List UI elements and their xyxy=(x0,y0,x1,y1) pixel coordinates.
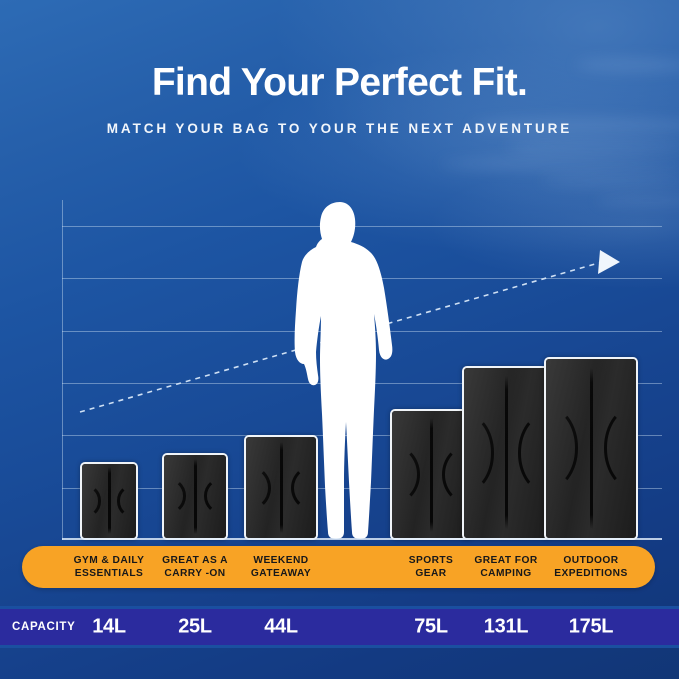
bag-sheen xyxy=(246,437,316,538)
bar-chart-plot-area: 72”60”48”36”24”12” 8” X 18”10” X 20”12” … xyxy=(62,200,662,540)
chart-baseline xyxy=(62,538,662,540)
cloud-streak xyxy=(440,158,679,170)
use-case-cell: GREAT AS ACARRY -ON xyxy=(162,554,228,580)
bag-sheen xyxy=(392,411,470,538)
use-case-line-2: GATEAWAY xyxy=(251,567,311,580)
page-title: Find Your Perfect Fit. xyxy=(0,63,679,104)
use-case-line-1: GREAT AS A xyxy=(162,554,228,567)
capacity-value: 131L xyxy=(484,616,528,639)
use-case-line-1: WEEKEND xyxy=(251,554,311,567)
infographic-canvas: Find Your Perfect Fit. MATCH YOUR BAG TO… xyxy=(0,0,679,679)
capacity-value: 44L xyxy=(264,616,298,639)
bag-bar[interactable]: 12” X 24” xyxy=(244,435,318,540)
cloud-streak xyxy=(505,140,679,153)
capacity-band: CAPACITY 14L25L44L75L131L175L xyxy=(0,606,679,648)
y-axis-line xyxy=(62,200,63,540)
bag-bar[interactable]: 14” X 30” xyxy=(390,409,472,540)
use-case-line-1: SPORTS xyxy=(409,554,454,567)
capacity-value: 25L xyxy=(178,616,212,639)
capacity-value: 14L xyxy=(92,616,126,639)
use-case-line-2: GEAR xyxy=(409,567,454,580)
use-case-line-1: OUTDOOR xyxy=(554,554,627,567)
bag-bar[interactable]: 16” X 40” xyxy=(462,366,550,540)
bag-sheen xyxy=(164,455,226,538)
use-case-cell: OUTDOOREXPEDITIONS xyxy=(554,554,627,580)
bag-bar[interactable]: 8” X 18” xyxy=(80,462,138,540)
use-case-line-2: CARRY -ON xyxy=(162,567,228,580)
use-case-line-2: CAMPING xyxy=(474,567,537,580)
page-subtitle: MATCH YOUR BAG TO YOUR THE NEXT ADVENTUR… xyxy=(0,121,679,136)
capacity-value: 175L xyxy=(569,616,613,639)
bag-bar[interactable]: 10” X 20” xyxy=(162,453,228,540)
bag-bar[interactable]: 18” X 42” xyxy=(544,357,638,540)
use-case-cell: GREAT FORCAMPING xyxy=(474,554,537,580)
bag-sheen xyxy=(464,368,548,538)
use-case-cell: WEEKENDGATEAWAY xyxy=(251,554,311,580)
bag-sheen xyxy=(82,464,136,538)
use-case-cell: SPORTSGEAR xyxy=(409,554,454,580)
use-case-line-2: EXPEDITIONS xyxy=(554,567,627,580)
use-case-line-2: ESSENTIALS xyxy=(74,567,145,580)
use-case-cell: GYM & DAILYESSENTIALS xyxy=(74,554,145,580)
use-case-line-1: GYM & DAILY xyxy=(74,554,145,567)
capacity-value: 75L xyxy=(414,616,448,639)
cloud-streak xyxy=(540,176,679,186)
use-case-category-bar: GYM & DAILYESSENTIALSGREAT AS ACARRY -ON… xyxy=(22,546,655,588)
use-case-line-1: GREAT FOR xyxy=(474,554,537,567)
header: Find Your Perfect Fit. MATCH YOUR BAG TO… xyxy=(0,0,679,136)
capacity-row-label: CAPACITY xyxy=(12,621,76,633)
bag-sheen xyxy=(546,359,636,538)
